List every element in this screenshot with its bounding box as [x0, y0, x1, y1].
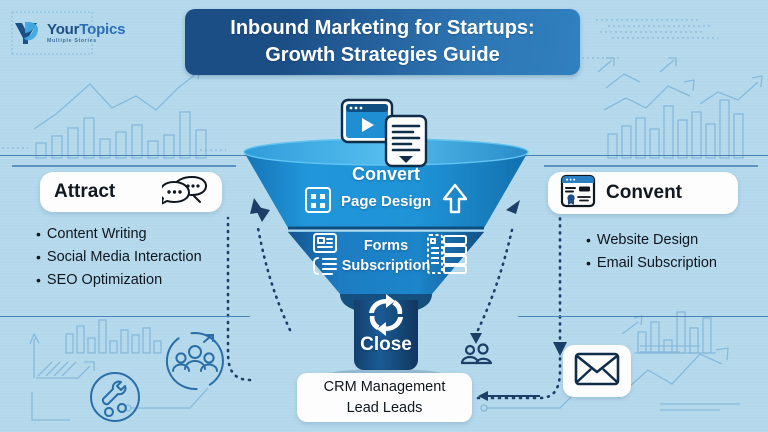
list-item-label: Social Media Interaction — [47, 249, 202, 266]
list-item[interactable]: • Website Design — [586, 232, 717, 249]
bullet-marker: • — [586, 255, 591, 272]
conversion-funnel: Convert Page Design Forms Subscription C… — [236, 128, 536, 378]
crm-line-1: CRM Management — [324, 377, 446, 398]
list-item-label: SEO Optimization — [47, 272, 162, 289]
envelope-icon — [574, 352, 620, 391]
attract-heading: Attract — [54, 181, 115, 203]
list-item-label: Website Design — [597, 232, 698, 249]
attract-header[interactable]: Attract — [40, 172, 222, 212]
list-item[interactable]: • Content Writing — [36, 226, 202, 243]
sketch-arrow-bottom-left — [30, 334, 94, 420]
title-line-2: Growth Strategies Guide — [265, 42, 499, 69]
funnel-stage1-sublabel: Page Design — [236, 193, 536, 210]
funnel-stage2-label-1: Forms — [236, 238, 536, 254]
data-table-icon — [426, 232, 468, 281]
crm-inbound-arrow — [478, 391, 540, 401]
crm-callout[interactable]: CRM Management Lead Leads — [297, 373, 472, 422]
speech-bubbles-icon — [162, 175, 208, 210]
bullet-marker: • — [36, 272, 41, 289]
list-item-label: Email Subscription — [597, 255, 717, 272]
title-line-1: Inbound Marketing for Startups: — [230, 15, 534, 42]
bar-chart-small-bottom-right — [622, 312, 716, 353]
form-list-icon — [310, 232, 340, 283]
growth-line-bottom-right — [618, 346, 740, 410]
crm-line-2: Lead Leads — [347, 398, 423, 419]
page-title: Inbound Marketing for Startups: Growth S… — [185, 9, 580, 75]
corner-mini-arrows — [598, 58, 676, 72]
bar-chart-trendline-right — [604, 74, 762, 158]
list-item[interactable]: • SEO Optimization — [36, 272, 202, 289]
brand-logo[interactable]: YourTopics Multiple Stories — [12, 18, 125, 48]
infographic-canvas: YourTopics Multiple Stories Inbound Mark… — [0, 0, 768, 432]
convent-header[interactable]: Convent — [548, 172, 738, 214]
document-download-icon — [384, 114, 428, 173]
convent-list: • Website Design • Email Subscription — [586, 232, 717, 278]
bullet-marker: • — [36, 249, 41, 266]
grid-layout-icon — [304, 186, 332, 219]
bar-chart-small-bottom-left — [66, 320, 161, 353]
bar-chart-trendline-left — [34, 68, 206, 158]
mail-card[interactable] — [563, 345, 631, 397]
list-item-label: Content Writing — [47, 226, 147, 243]
team-circle-icon — [164, 330, 226, 392]
list-item[interactable]: • Email Subscription — [586, 255, 717, 272]
convent-heading: Convent — [606, 182, 682, 204]
bullet-marker: • — [36, 226, 41, 243]
funnel-stage2-label-2: Subscription — [236, 258, 536, 274]
list-item[interactable]: • Social Media Interaction — [36, 249, 202, 266]
browser-profile-card-icon — [560, 174, 596, 213]
tools-circle-icon — [88, 370, 142, 424]
logo-guide-marks — [6, 10, 166, 56]
refresh-cycle-icon — [362, 294, 410, 341]
cursor-arrow-icon — [440, 182, 470, 221]
attract-list: • Content Writing • Social Media Interac… — [36, 226, 202, 295]
bullet-marker: • — [586, 232, 591, 249]
